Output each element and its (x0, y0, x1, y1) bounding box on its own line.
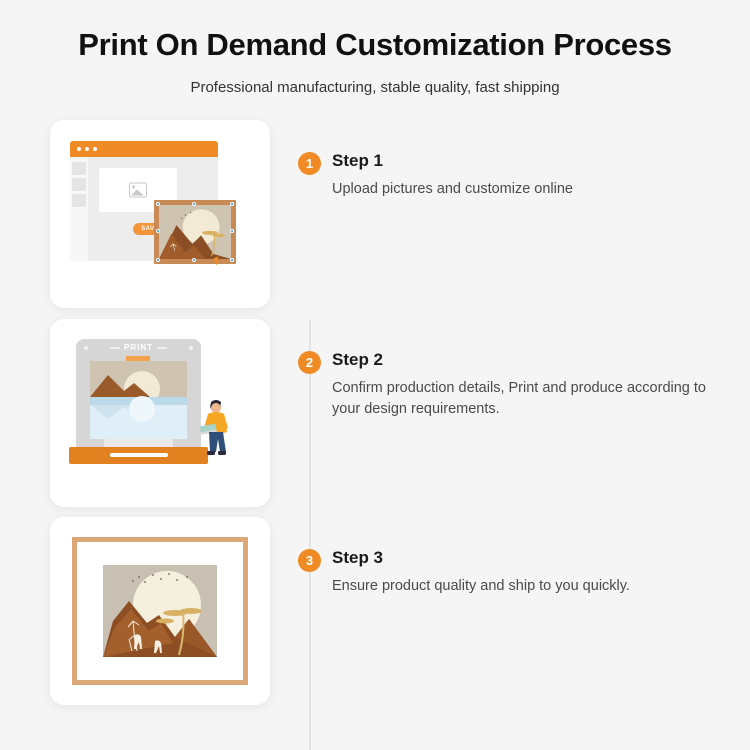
page-title: Print On Demand Customization Process (0, 26, 750, 63)
sidebar-chip (72, 178, 86, 191)
selection-handle[interactable] (230, 202, 234, 206)
header: Print On Demand Customization Process Pr… (0, 0, 750, 96)
printer-body: PRINT (76, 339, 201, 459)
step-badge: 1 (298, 152, 321, 175)
printer-output-slot (110, 453, 168, 457)
dash-decoration (110, 347, 120, 349)
step-badge: 2 (298, 351, 321, 374)
printer-illustration: PRINT (76, 339, 231, 491)
window-dot-icon (77, 147, 81, 151)
printed-output-preview (90, 361, 187, 439)
browser-title-bar (70, 141, 218, 157)
step-description: Confirm production details, Print and pr… (332, 378, 738, 420)
selected-artwork-frame[interactable] (154, 200, 236, 264)
window-dot-icon (93, 147, 97, 151)
step-1-text: 1 Step 1 Upload pictures and customize o… (298, 150, 738, 200)
step-2-illustration-card: PRINT (50, 319, 270, 507)
step-3-text: 3 Step 3 Ensure product quality and ship… (298, 547, 738, 597)
step-2-text: 2 Step 2 Confirm production details, Pri… (298, 349, 738, 420)
step-description: Ensure product quality and ship to you q… (332, 576, 738, 597)
step-title: Step 3 (332, 547, 738, 569)
printer-label-text: PRINT (106, 343, 171, 352)
printer-base (69, 447, 208, 464)
person-with-laptop-icon (198, 397, 232, 465)
step-title: Step 1 (332, 150, 738, 172)
dash-decoration (157, 347, 167, 349)
step-description: Upload pictures and customize online (332, 179, 738, 200)
poster-root: Print On Demand Customization Process Pr… (0, 0, 750, 750)
step-badge: 3 (298, 549, 321, 572)
sidebar-chip (72, 194, 86, 207)
step-3-illustration-card (50, 517, 270, 705)
framed-wall-art (72, 537, 248, 685)
printer-top-bar: PRINT (76, 339, 201, 356)
artwork-thumbnail (159, 205, 231, 259)
selection-handle[interactable] (156, 258, 160, 262)
browser-sidebar (70, 157, 88, 261)
printer-knob-icon (84, 346, 88, 350)
artwork-image (103, 565, 217, 657)
selection-handle[interactable] (230, 258, 234, 262)
image-icon (129, 183, 147, 198)
selection-handle[interactable] (192, 258, 196, 262)
printer-knob-icon (189, 346, 193, 350)
sidebar-chip (72, 162, 86, 175)
printer-label: PRINT (124, 343, 153, 352)
selection-handle[interactable] (230, 229, 234, 233)
step-title: Step 2 (332, 349, 738, 371)
window-dot-icon (85, 147, 89, 151)
printer-tray (104, 439, 173, 447)
page-subtitle: Professional manufacturing, stable quali… (0, 79, 750, 96)
step-1-illustration-card: SAVE (50, 120, 270, 308)
